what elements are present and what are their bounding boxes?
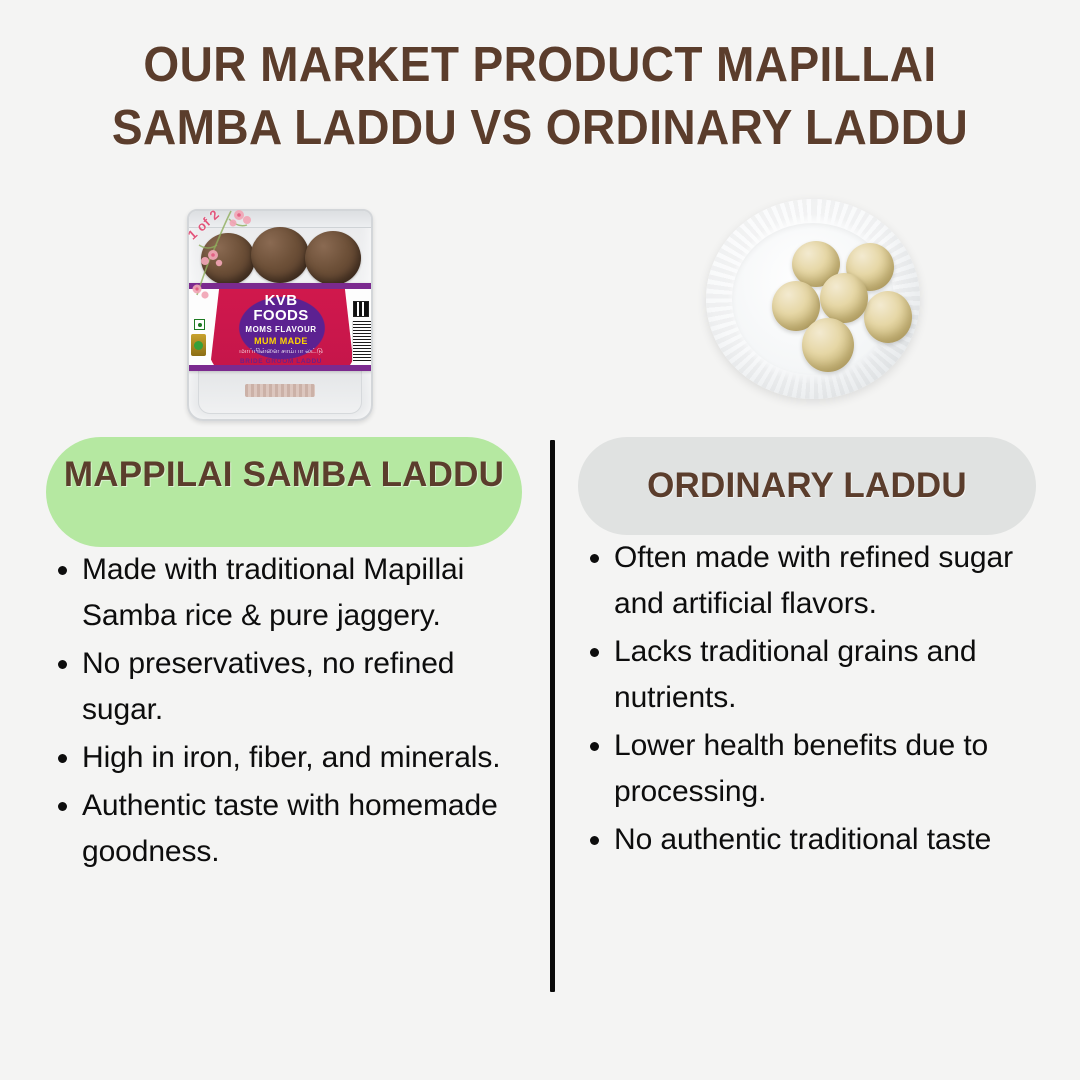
drawbacks-list-ordinary: Often made with refined sugar and artifi…	[578, 535, 1018, 863]
list-item: High in iron, fiber, and minerals.	[46, 735, 516, 781]
list-item: Lacks traditional grains and nutrients.	[578, 629, 1018, 721]
column-mappilai-samba-laddu: MAPPILAI SAMBA LADDU Made with tradition…	[46, 437, 526, 877]
column-ordinary-laddu: ORDINARY LADDU Often made with refined s…	[578, 437, 1040, 865]
kvb-foods-package-image: KVB FOODS MOMS FLAVOUR MUM MADE மாப்பிள்…	[183, 203, 373, 423]
product-variant-name: BRIDE GROOM LADDU	[187, 357, 373, 367]
list-item: No authentic traditional taste	[578, 817, 1018, 863]
barcode-icon	[352, 321, 371, 361]
brand-highlight: MUM MADE	[187, 335, 373, 347]
page-title: OUR MARKET PRODUCT MAPILLAI SAMBA LADDU …	[79, 34, 1000, 160]
vegetarian-mark-icon	[194, 319, 205, 330]
page-title-line-2: SAMBA LADDU VS ORDINARY LADDU	[79, 97, 1000, 160]
plastic-tray: KVB FOODS MOMS FLAVOUR MUM MADE மாப்பிள்…	[187, 209, 373, 421]
list-item: Made with traditional Mapillai Samba ric…	[46, 547, 516, 639]
laddu-ball	[305, 231, 361, 285]
list-item: Lower health benefits due to processing.	[578, 723, 1018, 815]
column-divider	[550, 440, 555, 992]
qr-code-icon	[353, 301, 369, 317]
tray-emboss	[245, 384, 315, 397]
package-label-band: KVB FOODS MOMS FLAVOUR MUM MADE மாப்பிள்…	[187, 283, 373, 371]
tray-floor	[198, 364, 362, 414]
ordinary-laddu-ball	[864, 291, 912, 343]
list-item: No preservatives, no refined sugar.	[46, 641, 516, 733]
list-item: Often made with refined sugar and artifi…	[578, 535, 1018, 627]
ordinary-laddu-ball	[802, 318, 854, 372]
laddu-ball	[251, 227, 309, 283]
ordinary-laddu-plate-image	[706, 199, 920, 399]
column-heading-ordinary-laddu: ORDINARY LADDU	[578, 437, 1036, 535]
benefits-list-mappilai: Made with traditional Mapillai Samba ric…	[46, 547, 516, 875]
ordinary-laddu-ball	[820, 273, 868, 323]
laddu-ball	[201, 233, 255, 285]
page-title-line-1: OUR MARKET PRODUCT MAPILLAI	[79, 34, 1000, 97]
plate-well	[732, 223, 894, 375]
column-heading-mappilai-samba-laddu: MAPPILAI SAMBA LADDU	[46, 437, 522, 547]
certification-logo-icon	[191, 334, 206, 356]
product-images-row: KVB FOODS MOMS FLAVOUR MUM MADE மாப்பிள்…	[0, 185, 1080, 435]
list-item: Authentic taste with homemade goodness.	[46, 783, 516, 875]
brand-name-line-1: KVB	[187, 293, 373, 308]
package-label-text: KVB FOODS MOMS FLAVOUR MUM MADE மாப்பிள்…	[187, 289, 373, 365]
tamil-product-name: மாப்பிள்ளை சாம்பா லட்டு	[187, 347, 373, 357]
brand-tagline: MOMS FLAVOUR	[187, 324, 373, 335]
brand-name-line-2: FOODS	[187, 308, 373, 324]
